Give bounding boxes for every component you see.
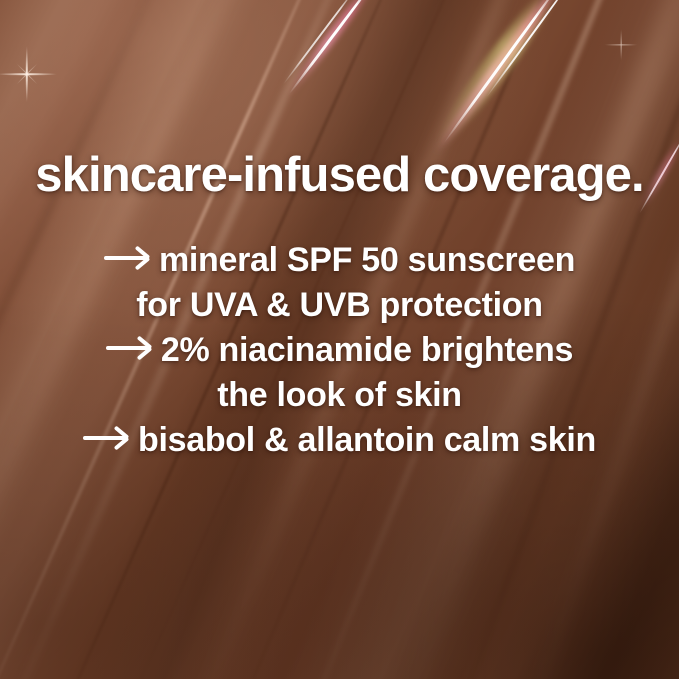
list-item-line-2: for UVA & UVB protection [0,283,679,328]
list-item-line-2: the look of skin [0,373,679,418]
arrow-right-icon [104,245,150,272]
marketing-graphic: skincare-infused coverage. mineral SPF 5… [0,0,679,679]
arrow-right-icon [106,335,152,362]
list-item: mineral SPF 50 sunscreen for UVA & UVB p… [0,238,679,328]
list-item: bisabol & allantoin calm skin [0,418,679,463]
page-title: skincare-infused coverage. [0,150,679,201]
copy-block: skincare-infused coverage. mineral SPF 5… [0,0,679,679]
list-item-line-1: mineral SPF 50 sunscreen [159,241,575,279]
list-item-line-1: bisabol & allantoin calm skin [138,421,596,459]
list-item-line-1: 2% niacinamide brightens [161,331,573,369]
benefit-list: mineral SPF 50 sunscreen for UVA & UVB p… [0,238,679,462]
arrow-right-icon [83,425,129,452]
list-item: 2% niacinamide brightens the look of ski… [0,328,679,418]
